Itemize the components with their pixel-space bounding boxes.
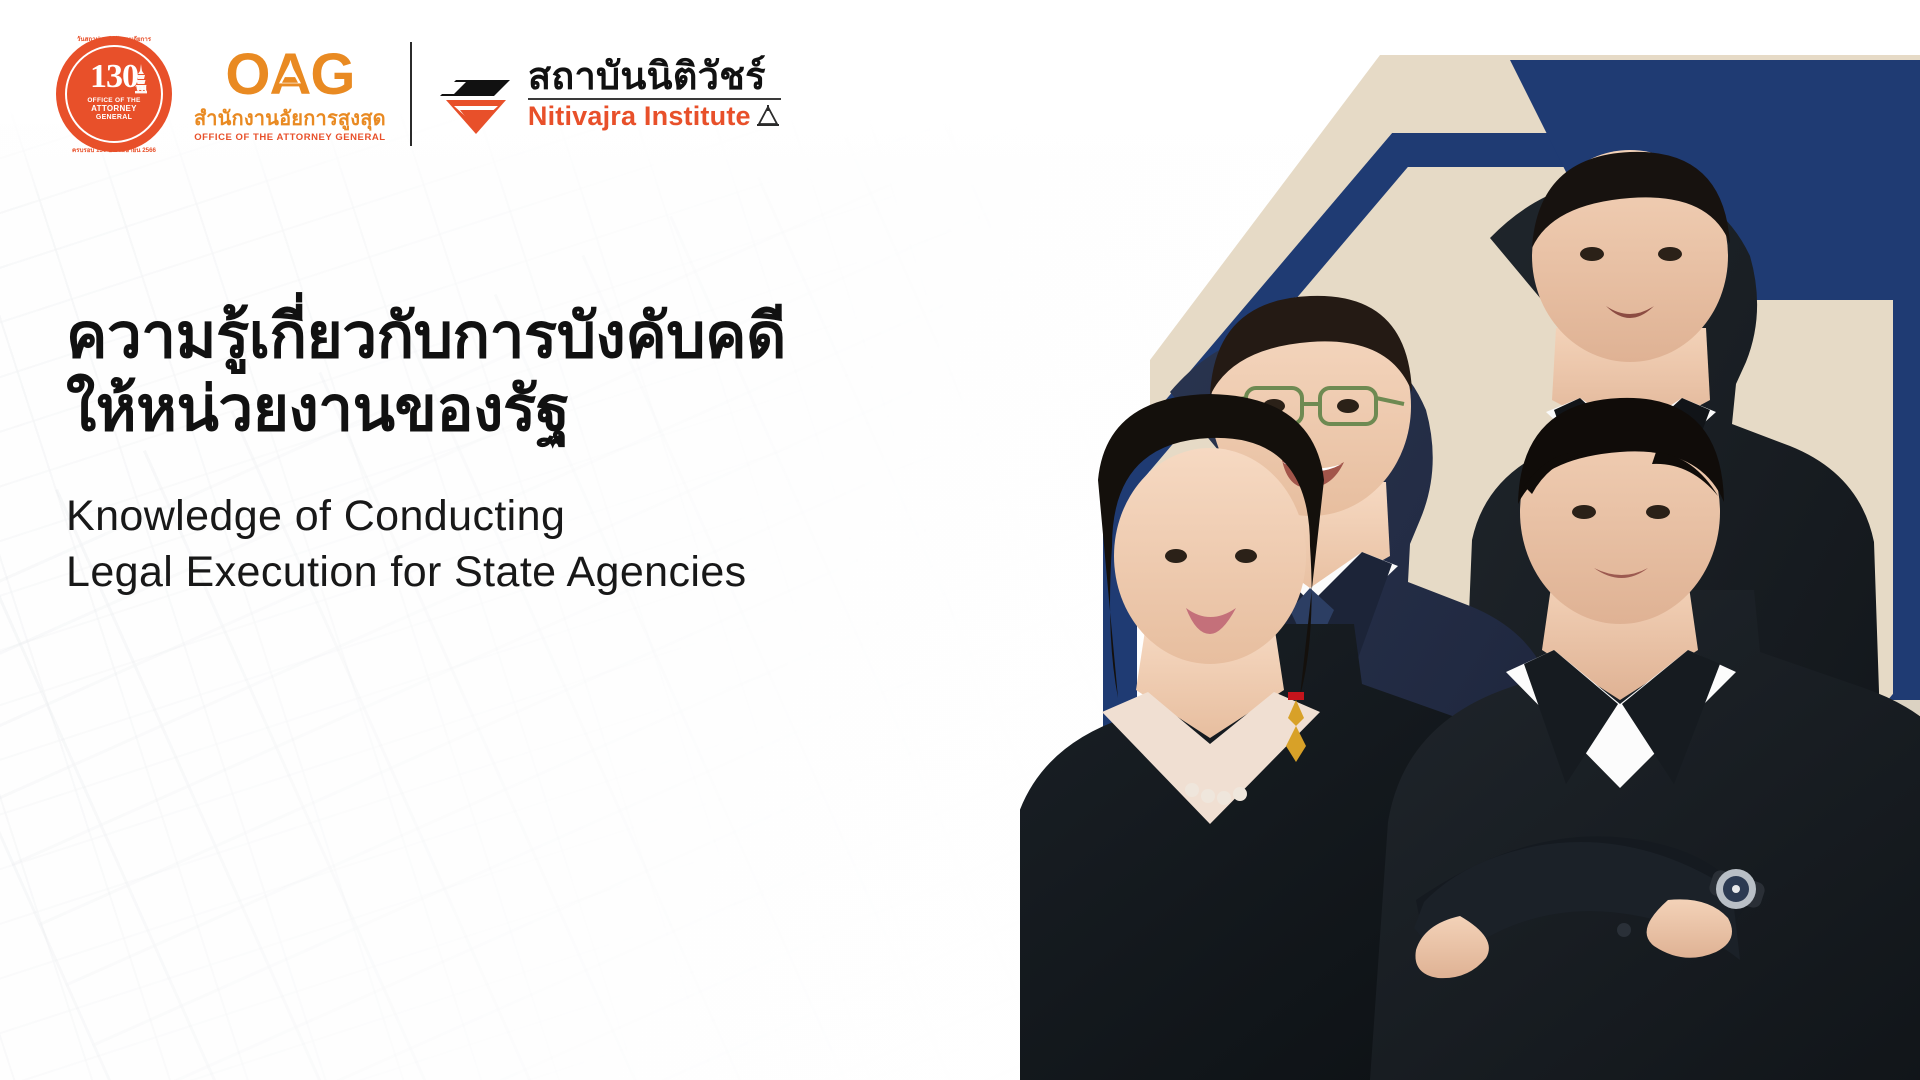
banner-root: วันสถาปนาสำนักงานอัยการ 130 TH OFFICE OF…: [0, 0, 1920, 1080]
seal-arc-bottom-text: ครบรอบ 130 ปี 1 เมษายน 2566: [56, 145, 172, 155]
seal-arc-top-text: วันสถาปนาสำนักงานอัยการ: [56, 34, 172, 44]
nitivajra-thai-name: สถาบันนิติวัชร์: [528, 58, 781, 96]
oag-english-name: OFFICE OF THE ATTORNEY GENERAL: [194, 133, 385, 143]
oag-wordmark-text: OAG: [225, 42, 354, 107]
oag-logo: OAG สำนักงานอัยการสูงสุด OFFICE OF THE A…: [194, 46, 386, 143]
subhead-line-2: Legal Execution for State Agencies: [66, 545, 786, 601]
headline-block: ความรู้เกี่ยวกับการบังคับคดี ให้หน่วยงาน…: [66, 300, 786, 601]
nitivajra-wordmark: สถาบันนิติวัชร์ Nitivajra Institute: [528, 58, 781, 130]
nitivajra-english-row: Nitivajra Institute: [528, 98, 781, 130]
nitivajra-english-name: Nitivajra Institute: [528, 103, 751, 130]
seal-line-3: GENERAL: [96, 114, 132, 122]
logo-bar: วันสถาปนาสำนักงานอัยการ 130 TH OFFICE OF…: [56, 36, 781, 152]
suit-button: [1617, 923, 1631, 937]
speaker-photo-group: [1020, 0, 1920, 1080]
oag-wordmark: OAG: [225, 46, 354, 104]
nitivajra-vajra-icon: [436, 52, 516, 136]
balance-scale-icon: [755, 105, 781, 129]
oag-thai-name: สำนักงานอัยการสูงสุด: [194, 109, 386, 129]
seal-number-value: 130: [90, 58, 138, 95]
headline-line-2: ให้หน่วยงานของรัฐ: [66, 373, 786, 446]
headline-line-1: ความรู้เกี่ยวกับการบังคับคดี: [66, 299, 786, 372]
page-title: ความรู้เกี่ยวกับการบังคับคดี ให้หน่วยงาน…: [66, 300, 786, 445]
seal-pagoda-icon: [134, 64, 148, 94]
seal-line-2: ATTORNEY: [91, 105, 137, 114]
seal-number: 130 TH: [90, 60, 138, 94]
subhead-line-1: Knowledge of Conducting: [66, 492, 565, 540]
oag-130th-anniversary-seal: วันสถาปนาสำนักงานอัยการ 130 TH OFFICE OF…: [56, 36, 172, 152]
logo-divider: [410, 42, 412, 146]
nitivajra-logo: สถาบันนิติวัชร์ Nitivajra Institute: [436, 52, 781, 136]
seal-inner-disc: 130 TH OFFICE OF THE ATTORNEY GENERAL: [69, 49, 159, 139]
page-subtitle: Knowledge of Conducting Legal Execution …: [66, 489, 786, 601]
